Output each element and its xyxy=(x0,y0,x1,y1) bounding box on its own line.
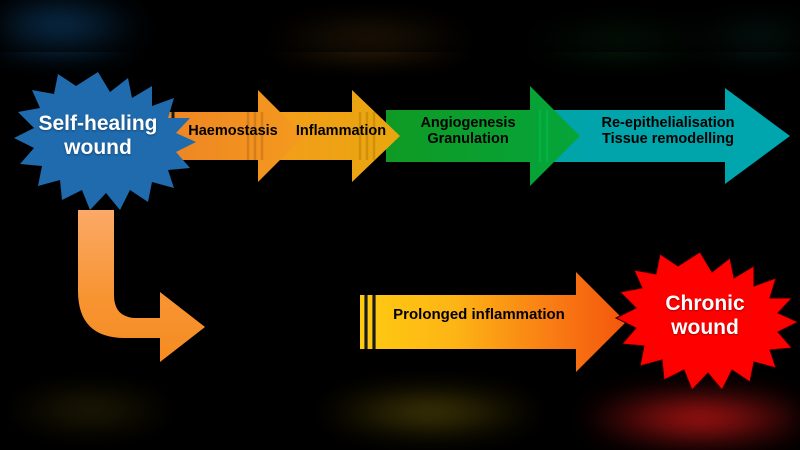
arrow-stage-proliferation[interactable] xyxy=(386,86,580,186)
diagram-canvas: Self-healing wound Haemostasis Inflammat… xyxy=(0,0,800,450)
node-self-healing-wound[interactable] xyxy=(14,72,196,210)
top-pathway-arrow-chain xyxy=(160,86,790,186)
diagram-artwork xyxy=(0,0,800,450)
divert-arrow[interactable] xyxy=(78,210,205,362)
node-chronic-wound[interactable] xyxy=(616,252,798,390)
bottom-pathway-arrow xyxy=(360,272,626,372)
arrow-stage-prolonged-inflammation[interactable] xyxy=(360,272,626,372)
